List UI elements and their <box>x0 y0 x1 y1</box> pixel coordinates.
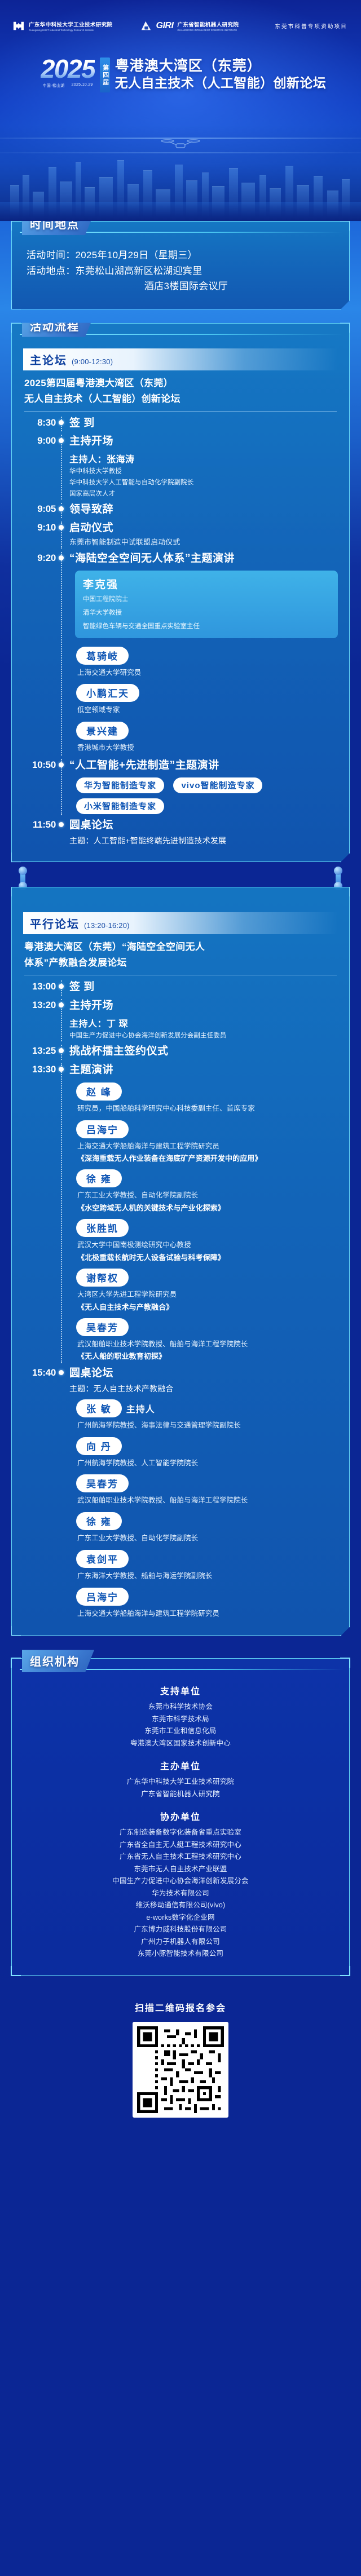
speaker-pill: 吕海宁 <box>76 1588 129 1606</box>
parallel-forum-timeline: 13:00 签 到 13:20 主持开场 主持人：丁 琛 中国生产力促进中心协会… <box>23 979 338 1623</box>
speaker-desc: 上海交通大学研究员 <box>77 668 338 678</box>
sponsor-note: 东莞市科普专项资助项目 <box>275 22 351 30</box>
timeline-dot-icon <box>59 1002 64 1008</box>
speaker-credential: 中国工程院院士 <box>83 595 330 605</box>
main-forum-divider <box>24 411 337 412</box>
speaker-desc: 武汉船舶职业技术学院教授、船舶与海洋工程学院院长 <box>77 1339 338 1350</box>
timeline-dot-icon <box>59 506 64 511</box>
parallel-forum-time-range: (13:20-16:20) <box>84 921 130 930</box>
hust-logo-icon <box>12 20 25 32</box>
row-title: 圆桌论坛 <box>69 1367 338 1381</box>
hero-location-small: 中国·松山湖 <box>42 83 64 89</box>
org-item: 东莞小豚智能技术有限公司 <box>23 1948 338 1960</box>
row-time: 13:00 <box>23 980 56 992</box>
row-time: 9:10 <box>23 522 56 533</box>
row-time: 10:50 <box>23 759 56 771</box>
speaker-pill: 袁剑平 <box>76 1550 129 1568</box>
time-location-body: 活动时间：2025年10月29日（星期三） 活动地点：东莞松山湖高新区松湖迎宾里… <box>23 246 338 297</box>
row-title: “人工智能+先进制造”主题演讲 <box>69 759 338 773</box>
timeline-dot-icon <box>59 762 64 767</box>
organizations-section: 组织机构 支持单位 东莞市科学技术协会 东莞市科学技术局 东莞市工业和信息化局 … <box>0 1658 361 1976</box>
row-note: 华中科技大学人工智能与自动化学院副院长 <box>69 478 338 488</box>
agenda-row: 9:10 启动仪式 东莞市智能制造中试联盟启动仪式 <box>23 520 338 551</box>
row-title: 启动仪式 <box>69 522 338 536</box>
speaker-pill: 徐 雍 <box>76 1512 122 1530</box>
agenda-row: 10:50 “人工智能+先进制造”主题演讲 华为智能制造专家 vivo智能制造专… <box>23 757 338 818</box>
agenda-tab: 活动流程 <box>22 315 94 337</box>
hero-edition-badge: 第四届 <box>100 58 110 92</box>
parallel-forum-subtitle-2: 体系”产教融合发展论坛 <box>24 957 338 969</box>
speaker-pill: 小米智能制造专家 <box>76 798 164 814</box>
speaker-pill: 赵 峰 <box>76 1082 122 1101</box>
hero-year-block: 2025 中国·松山湖 2025.10.29 <box>41 56 95 89</box>
keynote-speaker-card: 李克强 中国工程院院士 清华大学教授 智能绿色车辆与交通全国重点实验室主任 <box>75 571 338 638</box>
speaker-desc: 武汉大学中国南极测绘研究中心教授 <box>77 1240 338 1251</box>
org-item: 东莞市科学技术协会 <box>23 1701 338 1713</box>
timeline-dot-icon <box>59 1067 64 1072</box>
org-group-label: 主办单位 <box>23 1758 338 1772</box>
row-time: 13:30 <box>23 1063 56 1075</box>
parallel-forum-title: 平行论坛 <box>30 915 80 931</box>
hero-year: 2025 <box>41 56 95 81</box>
speaker-topic: 《无人自主技术与产教融合》 <box>77 1301 338 1312</box>
main-forum-title: 主论坛 <box>30 351 67 368</box>
qr-registration-section: 扫描二维码报名参会 <box>0 1986 361 2137</box>
parallel-forum-divider <box>24 975 337 975</box>
speaker-desc: 上海交通大学船舶海洋与建筑工程学院研究员 <box>77 1141 338 1152</box>
logo-giri-cn: 广东省智能机器人研究院 <box>177 20 239 28</box>
org-item: 广州力子机器人有限公司 <box>23 1936 338 1948</box>
row-title: 挑战杯擂主签约仪式 <box>69 1045 338 1059</box>
agenda-row: 13:20 主持开场 主持人：丁 琛 中国生产力促进中心协会海洋创新发展分会副主… <box>23 997 338 1043</box>
organizations-panel: 组织机构 支持单位 东莞市科学技术协会 东莞市科学技术局 东莞市工业和信息化局 … <box>11 1658 350 1976</box>
row-time: 8:30 <box>23 417 56 428</box>
org-item: 广东制造装备数字化装备省重点实验室 <box>23 1827 338 1839</box>
hero-title-block: 2025 中国·松山湖 2025.10.29 第四届 粤港澳大湾区（东莞） 无人… <box>0 56 361 92</box>
row-note: 中国生产力促进中心协会海洋创新发展分会副主任委员 <box>69 1031 338 1041</box>
organizations-tab: 组织机构 <box>22 1650 94 1672</box>
row-title: 主持开场 <box>69 435 338 449</box>
main-forum-panel: 活动流程 主论坛 (9:00-12:30) 2025第四届粤港澳大湾区（东莞） … <box>11 323 350 863</box>
main-forum-subtitle-1: 2025第四届粤港澳大湾区（东莞） <box>24 377 338 390</box>
speaker-desc: 大湾区大学先进工程学院研究员 <box>77 1289 338 1300</box>
hero-banner: 2025 中国·松山湖 2025.10.29 第四届 粤港澳大湾区（东莞） 无人… <box>0 52 361 221</box>
agenda-section: 活动流程 主论坛 (9:00-12:30) 2025第四届粤港澳大湾区（东莞） … <box>0 323 361 863</box>
row-time: 15:40 <box>23 1367 56 1378</box>
row-title: “海陆空全空间无人体系”主题演讲 <box>69 552 338 566</box>
row-title: 签 到 <box>69 417 338 431</box>
timeline-dot-icon <box>59 438 64 443</box>
main-forum-timeline: 8:30 签 到 9:00 主持开场 主持人：张海涛 华中科技大学教授 华中科技… <box>23 415 338 849</box>
row-title: 圆桌论坛 <box>69 819 338 833</box>
row-time: 13:20 <box>23 999 56 1011</box>
speaker-pill: 张 敏 <box>76 1399 122 1417</box>
logo-giri-en: GUANGDONG INTELLIGENT ROBOTICS INSTITUTE <box>177 29 239 32</box>
org-group-coorganizer: 协办单位 广东制造装备数字化装备省重点实验室 广东省全自主无人艇工程技术研究中心… <box>23 1809 338 1960</box>
row-time: 11:50 <box>23 819 56 830</box>
speaker-credential: 清华大学教授 <box>83 608 330 618</box>
speaker-desc: 广州航海学院教授、海事法律与交通管理学院副院长 <box>77 1420 338 1431</box>
main-forum-header: 主论坛 (9:00-12:30) <box>23 348 338 370</box>
qr-title: 扫描二维码报名参会 <box>0 2000 361 2014</box>
speaker-pill: 徐 雍 <box>76 1169 122 1187</box>
org-group-support: 支持单位 东莞市科学技术协会 东莞市科学技术局 东莞市工业和信息化局 粤港澳大湾… <box>23 1684 338 1749</box>
hero-date-small: 2025.10.29 <box>72 83 93 89</box>
hero-title-line1: 粤港澳大湾区（东莞） <box>115 58 326 74</box>
logo-giri: GIRI 广东省智能机器人研究院 GUANGDONG INTELLIGENT R… <box>140 20 239 32</box>
time-location-section: 时间地点 活动时间：2025年10月29日（星期三） 活动地点：东莞松山湖高新区… <box>0 221 361 310</box>
hero-title-line2: 无人自主技术（人工智能）创新论坛 <box>115 76 326 91</box>
agenda-row: 9:05 领导致辞 <box>23 501 338 520</box>
parallel-forum-section: 平行论坛 (13:20-16:20) 粤港澳大湾区（东莞）“海陆空全空间无人 体… <box>0 887 361 1636</box>
logo-hust-institute: 广东华中科技大学工业技术研究院 Guangdong HUST Industria… <box>12 20 113 32</box>
org-group-label: 协办单位 <box>23 1809 338 1823</box>
row-host: 主持人：张海涛 <box>69 452 338 465</box>
org-item: 东莞市科学技术局 <box>23 1713 338 1726</box>
speaker-desc: 香港城市大学教授 <box>77 743 338 753</box>
logo-hust-cn: 广东华中科技大学工业技术研究院 <box>29 20 113 28</box>
speaker-pill: 谢帮权 <box>76 1269 129 1287</box>
speaker-desc: 广东海洋大学教授、船舶与海运学院副院长 <box>77 1571 338 1581</box>
row-title: 签 到 <box>69 980 338 995</box>
speaker-pill: 小鹏汇天 <box>76 684 139 702</box>
agenda-row: 13:25 挑战杯擂主签约仪式 <box>23 1043 338 1062</box>
timeline-dot-icon <box>59 1370 64 1375</box>
speaker-desc: 低空领域专家 <box>77 705 338 715</box>
speaker-topic: 《水空跨域无人机的关键技术与产业化探索》 <box>77 1202 338 1213</box>
timeline-dot-icon <box>59 525 64 530</box>
row-note: 华中科技大学教授 <box>69 467 338 476</box>
org-item: 华为技术有限公司 <box>23 1888 338 1900</box>
speaker-pill: 葛骑岐 <box>76 647 129 665</box>
speaker-credential: 智能绿色车辆与交通全国重点实验室主任 <box>83 622 330 632</box>
speaker-pill: 吴春芳 <box>76 1474 129 1492</box>
agenda-row: 9:00 主持开场 主持人：张海涛 华中科技大学教授 华中科技大学人工智能与自动… <box>23 433 338 501</box>
row-note: 东莞市智能制造中试联盟启动仪式 <box>69 537 338 548</box>
org-item: 中国生产力促进中心协会海洋创新发展分会 <box>23 1875 338 1888</box>
parallel-forum-panel: 平行论坛 (13:20-16:20) 粤港澳大湾区（东莞）“海陆空全空间无人 体… <box>11 887 350 1636</box>
agenda-row: 11:50 圆桌论坛 主题：人工智能+智能终端先进制造技术发展 <box>23 817 338 849</box>
row-time: 9:20 <box>23 552 56 564</box>
row-theme: 主题：人工智能+智能终端先进制造技术发展 <box>69 835 338 846</box>
hero-year-subtext: 中国·松山湖 2025.10.29 <box>42 83 93 89</box>
main-forum-time-range: (9:00-12:30) <box>72 357 113 366</box>
org-item: 东莞市无人自主技术产业联盟 <box>23 1863 338 1876</box>
org-item: 广东省无人自主技术工程技术研究中心 <box>23 1851 338 1863</box>
row-note: 国家高层次人才 <box>69 489 338 499</box>
giri-logo-icon <box>140 20 152 32</box>
row-time: 9:05 <box>23 503 56 515</box>
partner-logo-bar: 广东华中科技大学工业技术研究院 Guangdong HUST Industria… <box>0 0 361 52</box>
row-host: 主持人：丁 琛 <box>69 1016 338 1029</box>
row-time: 9:00 <box>23 435 56 447</box>
org-group-label: 支持单位 <box>23 1684 338 1697</box>
timeline-dot-icon <box>59 420 64 425</box>
speaker-topic: 《深海重载无人作业装备在海底矿产资源开发中的应用》 <box>77 1152 338 1163</box>
agenda-row: 8:30 签 到 <box>23 415 338 434</box>
timeline-dot-icon <box>59 822 64 827</box>
agenda-row: 9:20 “海陆空全空间无人体系”主题演讲 李克强 中国工程院院士 清华大学教授… <box>23 550 338 757</box>
agenda-row: 13:00 签 到 <box>23 979 338 997</box>
event-venue-line: 活动地点：东莞松山湖高新区松湖迎宾里 <box>27 263 334 279</box>
org-item: 东莞市工业和信息化局 <box>23 1725 338 1738</box>
event-time-line: 活动时间：2025年10月29日（星期三） <box>27 248 334 263</box>
row-title: 主持开场 <box>69 999 338 1013</box>
speaker-pill: 吴春芳 <box>76 1318 129 1336</box>
timeline-dot-icon <box>59 984 64 989</box>
row-title: 主题演讲 <box>69 1063 338 1077</box>
panel-connector <box>0 872 361 887</box>
org-item: e-works数字化企业网 <box>23 1912 338 1924</box>
speaker-desc: 研究员，中国船舶科学研究中心科技委副主任、首席专家 <box>77 1103 338 1114</box>
speaker-pill: 向 丹 <box>76 1437 122 1455</box>
timeline-dot-icon <box>59 1048 64 1053</box>
org-group-host: 主办单位 广东华中科技大学工业技术研究院 广东省智能机器人研究院 <box>23 1758 338 1800</box>
hero-titles: 粤港澳大湾区（东莞） 无人自主技术（人工智能）创新论坛 <box>115 56 326 91</box>
speaker-desc: 广州航海学院教授、人工智能学院院长 <box>77 1458 338 1469</box>
speaker-desc: 广东工业大学教授、自动化学院副院长 <box>77 1190 338 1201</box>
giri-wordmark: GIRI <box>156 21 174 30</box>
parallel-forum-subtitle-1: 粤港澳大湾区（东莞）“海陆空全空间无人 <box>24 941 338 953</box>
speaker-topic: 《无人船的职业教育初探》 <box>77 1350 338 1361</box>
org-item: 广东省全自主无人艇工程技术研究中心 <box>23 1839 338 1852</box>
main-forum-subtitle-2: 无人自主技术（人工智能）创新论坛 <box>24 393 338 405</box>
speaker-topic: 《北极重载长航时无人设备试验与科考保障》 <box>77 1252 338 1262</box>
org-item: 粤港澳大湾区国家技术创新中心 <box>23 1738 338 1750</box>
speaker-desc: 武汉船舶职业技术学院教授、船舶与海洋工程学院院长 <box>77 1495 338 1506</box>
row-time: 13:25 <box>23 1045 56 1057</box>
speaker-pill: 吕海宁 <box>76 1120 129 1138</box>
drone-icon <box>161 137 200 154</box>
agenda-row: 15:40 圆桌论坛 主题：无人自主技术产教融合 张 敏 主持人 广州航海学院教… <box>23 1365 338 1623</box>
org-item: 维沃移动通信有限公司(vivo) <box>23 1899 338 1912</box>
speaker-pill: 景兴建 <box>76 722 129 740</box>
parallel-forum-header: 平行论坛 (13:20-16:20) <box>23 912 338 934</box>
qr-code[interactable] <box>133 2022 228 2118</box>
timeline-dot-icon <box>59 555 64 560</box>
speaker-desc: 上海交通大学船舶海洋与建筑工程学院研究员 <box>77 1609 338 1619</box>
logo-hust-en: Guangdong HUST Industrial Technology Res… <box>29 29 113 32</box>
org-item: 广东省智能机器人研究院 <box>23 1788 338 1801</box>
speaker-pill: 华为智能制造专家 <box>76 777 164 793</box>
row-theme: 主题：无人自主技术产教融合 <box>69 1383 338 1394</box>
speaker-pill: vivo智能制造专家 <box>173 777 262 793</box>
speaker-pill: 张胜凯 <box>76 1219 129 1237</box>
speaker-name: 李克强 <box>83 576 330 591</box>
speaker-desc: 广东工业大学教授、自动化学院副院长 <box>77 1533 338 1544</box>
speaker-role: 主持人 <box>126 1397 155 1415</box>
time-location-panel: 时间地点 活动时间：2025年10月29日（星期三） 活动地点：东莞松山湖高新区… <box>11 221 350 310</box>
agenda-row: 13:30 主题演讲 赵 峰 研究员，中国船舶科学研究中心科技委副主任、首席专家… <box>23 1062 338 1365</box>
row-title: 领导致辞 <box>69 503 338 517</box>
org-item: 广东华中科技大学工业技术研究院 <box>23 1776 338 1788</box>
event-venue-line2: 酒店3楼国际会议厅 <box>27 279 334 294</box>
org-item: 广东博力威科技股份有限公司 <box>23 1924 338 1936</box>
